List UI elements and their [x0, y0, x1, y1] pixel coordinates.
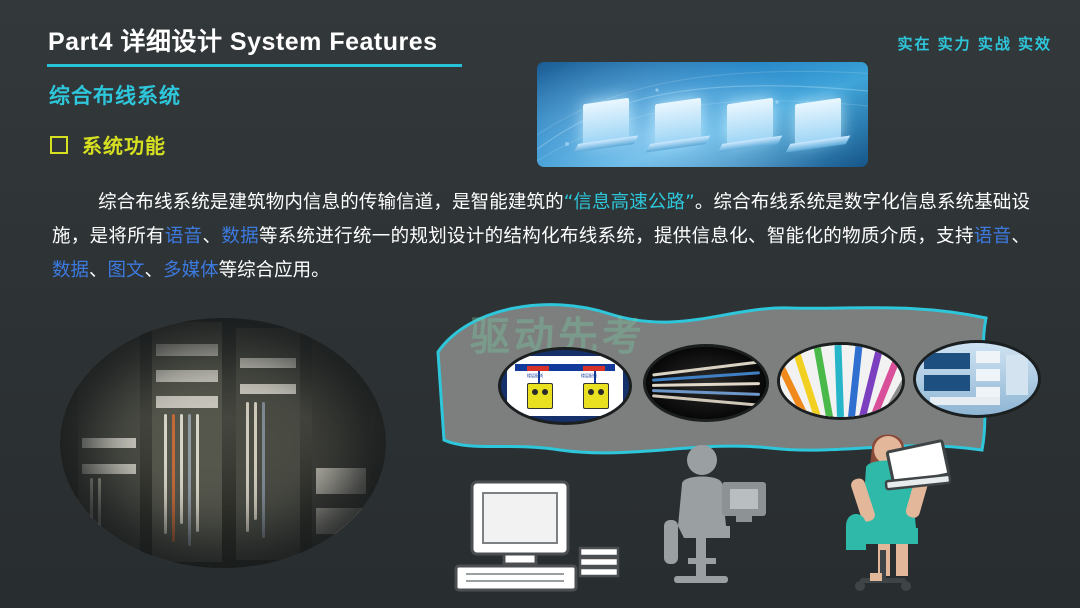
paragraph-highlight-7: 多媒体: [163, 260, 219, 281]
paragraph-part-4: 等系统进行统一的规划设计的结构化布线系统，提供信息化、智能化的物质介质，支持: [259, 226, 974, 247]
title-underline: [47, 64, 462, 67]
paragraph-part-5: 、: [1011, 226, 1030, 247]
paragraph-part-7: 、: [145, 260, 164, 281]
tagline: 实在 实力 实战 实效: [897, 33, 1052, 54]
paragraph-part-1: 综合布线系统是建筑物内信息的传输信道，是智能建筑的: [98, 192, 564, 213]
paragraph-highlight-6: 图文: [108, 260, 145, 281]
laptop-network-banner-image: [537, 62, 868, 167]
subtitle: 综合布线系统: [49, 80, 181, 110]
paragraph-highlight-4: 语音: [974, 226, 1012, 247]
paragraph-highlight-3: 数据: [221, 226, 259, 247]
paragraph-part-6: 、: [89, 260, 108, 281]
page-title: Part4 详细设计 System Features: [48, 22, 438, 58]
banner-laptop-2: [655, 98, 701, 144]
banner-laptop-3: [727, 98, 773, 144]
desktop-computer-illustration: [452, 478, 622, 598]
cabling-schematic-thumbnail: 楼层配线 楼层配线: [498, 347, 632, 425]
section-heading: 系统功能: [50, 130, 166, 159]
paragraph-highlight-5: 数据: [52, 260, 89, 281]
paragraph-part-3: 、: [203, 226, 222, 247]
section-label: 系统功能: [82, 130, 166, 159]
woman-with-laptop-illustration: [826, 418, 966, 593]
patch-panel-thumbnail: [913, 340, 1041, 418]
banner-laptop-1: [583, 98, 629, 144]
body-paragraph: 综合布线系统是建筑物内信息的传输信道，是智能建筑的“信息高速公路”。综合布线系统…: [52, 186, 1030, 288]
photo-vignette: [60, 318, 386, 568]
paragraph-part-8: 等综合应用。: [219, 260, 330, 281]
banner-laptop-4: [795, 98, 841, 144]
server-room-photo: [60, 318, 386, 568]
fiber-optic-cables-thumbnail: [643, 344, 769, 422]
color-cables-fan-thumbnail: [777, 342, 905, 420]
paragraph-highlight-1: “信息高速公路”: [564, 192, 695, 213]
square-bullet-icon: [50, 136, 68, 154]
paragraph-highlight-2: 语音: [165, 226, 203, 247]
seated-worker-silhouette-illustration: [660, 440, 780, 595]
slide-root: Part4 详细设计 System Features 实在 实力 实战 实效 综…: [0, 0, 1080, 608]
